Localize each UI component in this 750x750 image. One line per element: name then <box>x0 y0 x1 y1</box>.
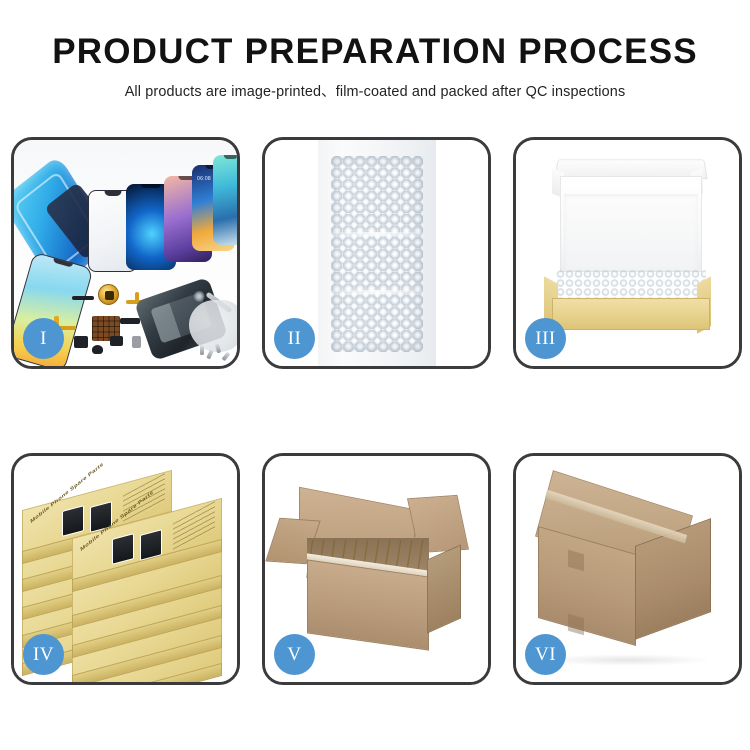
step-panel-5: V <box>262 453 491 685</box>
wrap-seam-icon <box>331 232 423 236</box>
speaker-coil-icon <box>98 284 119 305</box>
screw-icon <box>200 346 204 355</box>
step-badge-1: I <box>23 318 64 359</box>
step-badge-4: IV <box>23 634 64 675</box>
page-title: PRODUCT PREPARATION PROCESS <box>0 34 750 71</box>
component-icon <box>74 336 88 348</box>
step-panel-2: II <box>262 137 491 369</box>
step-badge-6: VI <box>525 634 566 675</box>
header: PRODUCT PREPARATION PROCESS All products… <box>0 0 750 101</box>
box-front-panel-icon <box>552 298 710 330</box>
foam-lining-icon <box>564 194 698 270</box>
carton-shadow <box>542 654 712 666</box>
component-icon <box>110 336 123 346</box>
carton-front-face-icon <box>307 559 429 650</box>
component-icon <box>132 336 141 348</box>
screw-icon <box>222 352 231 361</box>
retail-box-front: Mobile Phone Spare Parts <box>72 518 222 584</box>
step-badge-2: II <box>274 318 315 359</box>
component-icon <box>92 345 103 354</box>
phone-teal-icon <box>213 155 237 245</box>
step-badge-5: V <box>274 634 315 675</box>
steps-grid: 06:08 <box>11 137 743 685</box>
step-badge-3: III <box>525 318 566 359</box>
infographic-page: PRODUCT PREPARATION PROCESS All products… <box>0 0 750 750</box>
carton-right-face-icon <box>427 544 461 633</box>
step-panel-6: VI <box>513 453 742 685</box>
flex-cable-icon <box>72 296 94 300</box>
connector-icon <box>120 318 140 324</box>
carton-tab-icon <box>568 614 584 636</box>
wrap-seam-icon <box>331 290 423 294</box>
page-subtitle: All products are image-printed、film-coat… <box>0 80 750 101</box>
step-panel-1: 06:08 <box>11 137 240 369</box>
bubble-wrap-icon <box>331 156 423 352</box>
step-panel-4: Mobile Phone Spare Parts <box>11 453 240 685</box>
screw-icon <box>206 350 213 360</box>
step-panel-3: III <box>513 137 742 369</box>
